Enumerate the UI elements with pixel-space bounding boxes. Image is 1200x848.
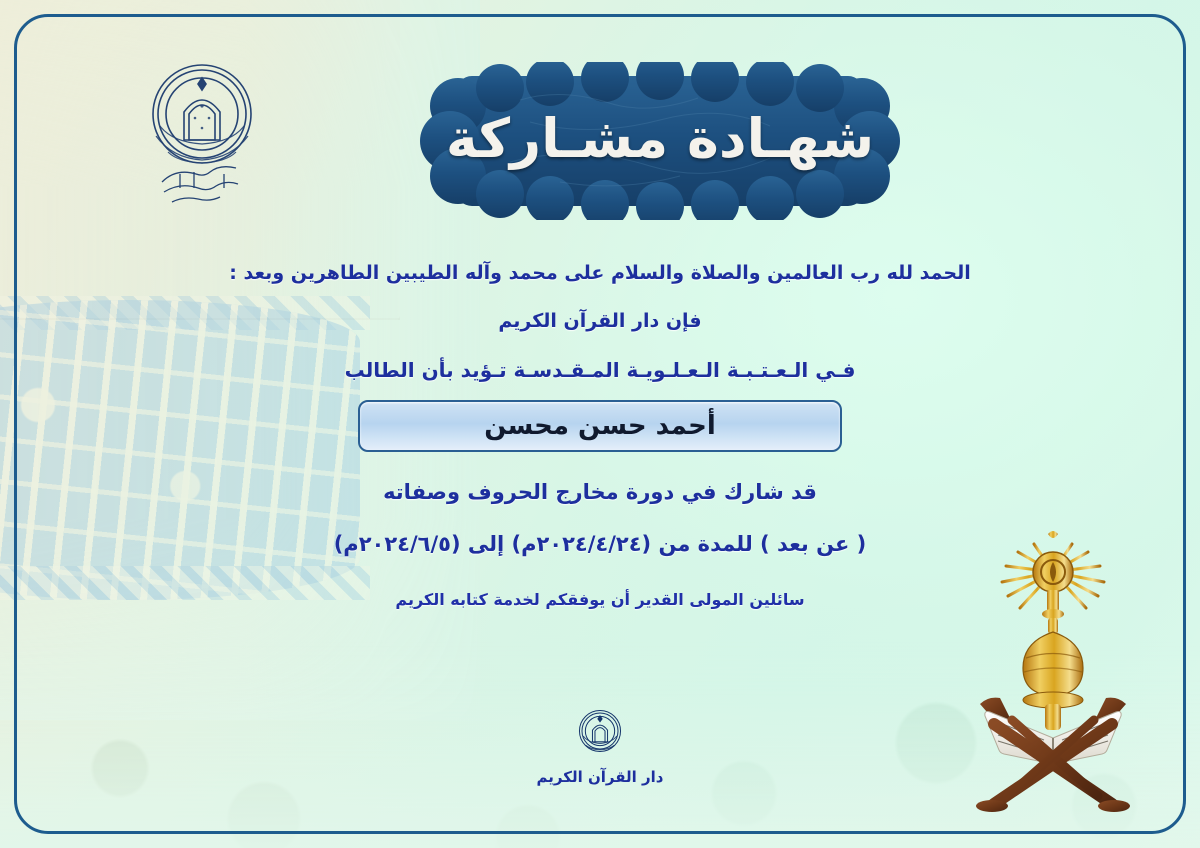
quran-on-rahle-icon (948, 528, 1158, 818)
certificate-title: شهـادة مشـاركة (400, 62, 920, 220)
footer-caption: دار القرآن الكريم (537, 768, 664, 786)
organization-seal-top (122, 56, 282, 232)
quran-stand-illustration (948, 528, 1158, 818)
body-line-organization: فإن دار القرآن الكريم (0, 310, 1200, 332)
seal-icon (569, 700, 631, 762)
title-banner: شهـادة مشـاركة (400, 62, 920, 220)
certificate-page: شهـادة مشـاركة الحمد لله رب العالمين وال… (0, 0, 1200, 848)
body-line-praise: الحمد لله رب العالمين والصلاة والسلام عل… (0, 262, 1200, 284)
seal-icon (128, 56, 276, 228)
body-line-attestation: فـي الـعـتـبـة الـعـلـويـة المـقـدسـة تـ… (0, 358, 1200, 382)
body-line-course: قد شارك في دورة مخارج الحروف وصفاته (0, 480, 1200, 504)
recipient-name-plate: أحمد حسن محسن (358, 400, 842, 452)
recipient-name: أحمد حسن محسن (484, 411, 716, 441)
